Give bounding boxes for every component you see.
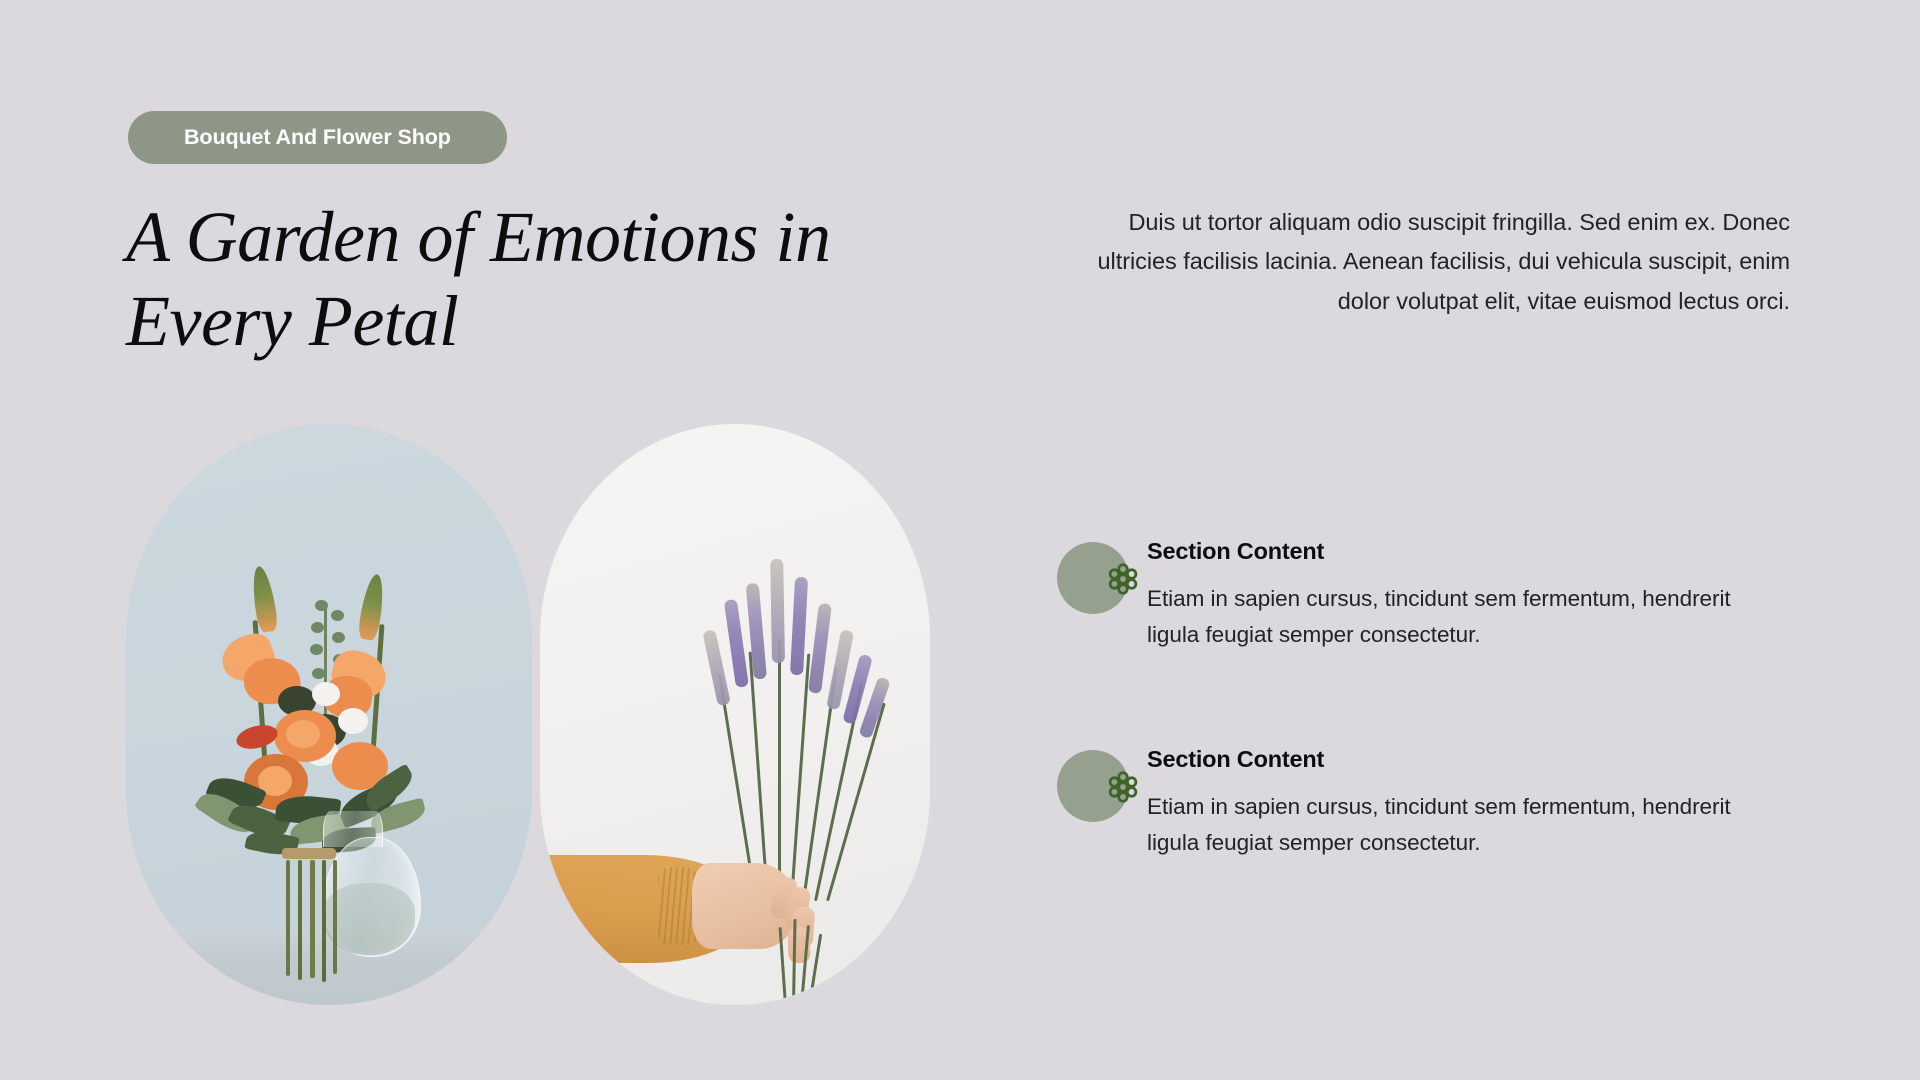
feature-mark — [1057, 746, 1147, 822]
feature-item: Section Content Etiam in sapien cursus, … — [1057, 746, 1803, 862]
feature-title: Section Content — [1147, 746, 1803, 773]
submerged-stem — [322, 860, 326, 982]
shop-category-badge[interactable]: Bouquet And Flower Shop — [128, 111, 507, 164]
feature-body: Section Content Etiam in sapien cursus, … — [1147, 538, 1803, 654]
lavender-illustration — [540, 424, 930, 1005]
feature-mark — [1057, 538, 1147, 614]
eucalyptus-leaf — [312, 668, 325, 679]
submerged-stem — [298, 860, 302, 980]
bouquet-illustration — [126, 424, 532, 1005]
white-bloom — [312, 682, 340, 706]
lavender-stem — [778, 639, 781, 901]
orange-rose-highlight — [286, 720, 320, 748]
eucalyptus-leaf — [331, 610, 344, 621]
eucalyptus-leaf — [332, 632, 345, 643]
twine-binding — [282, 848, 336, 859]
submerged-stem — [286, 860, 290, 976]
flower-icon — [1104, 560, 1142, 598]
eucalyptus-leaf — [311, 622, 324, 633]
feature-title: Section Content — [1147, 538, 1803, 565]
eucalyptus-leaf — [315, 600, 328, 611]
white-bloom — [338, 708, 368, 734]
image-orange-bouquet-in-glass-vase — [126, 424, 532, 1005]
feature-body: Section Content Etiam in sapien cursus, … — [1147, 746, 1803, 862]
shop-category-badge-label: Bouquet And Flower Shop — [184, 125, 451, 150]
intro-paragraph: Duis ut tortor aliquam odio suscipit fri… — [1068, 203, 1790, 321]
submerged-stem — [310, 860, 315, 978]
slide-canvas: Bouquet And Flower Shop A Garden of Emot… — [0, 0, 1920, 1080]
image-hand-holding-lavender — [540, 424, 930, 1005]
page-title: A Garden of Emotions in Every Petal — [126, 196, 956, 363]
feature-text: Etiam in sapien cursus, tincidunt sem fe… — [1147, 581, 1757, 654]
submerged-stem — [333, 860, 337, 974]
photo-tabletop — [126, 927, 532, 1005]
lavender-flower-spike — [770, 559, 785, 663]
eucalyptus-leaf — [310, 644, 323, 655]
feature-item: Section Content Etiam in sapien cursus, … — [1057, 538, 1803, 654]
flower-icon — [1104, 768, 1142, 806]
feature-text: Etiam in sapien cursus, tincidunt sem fe… — [1147, 789, 1757, 862]
